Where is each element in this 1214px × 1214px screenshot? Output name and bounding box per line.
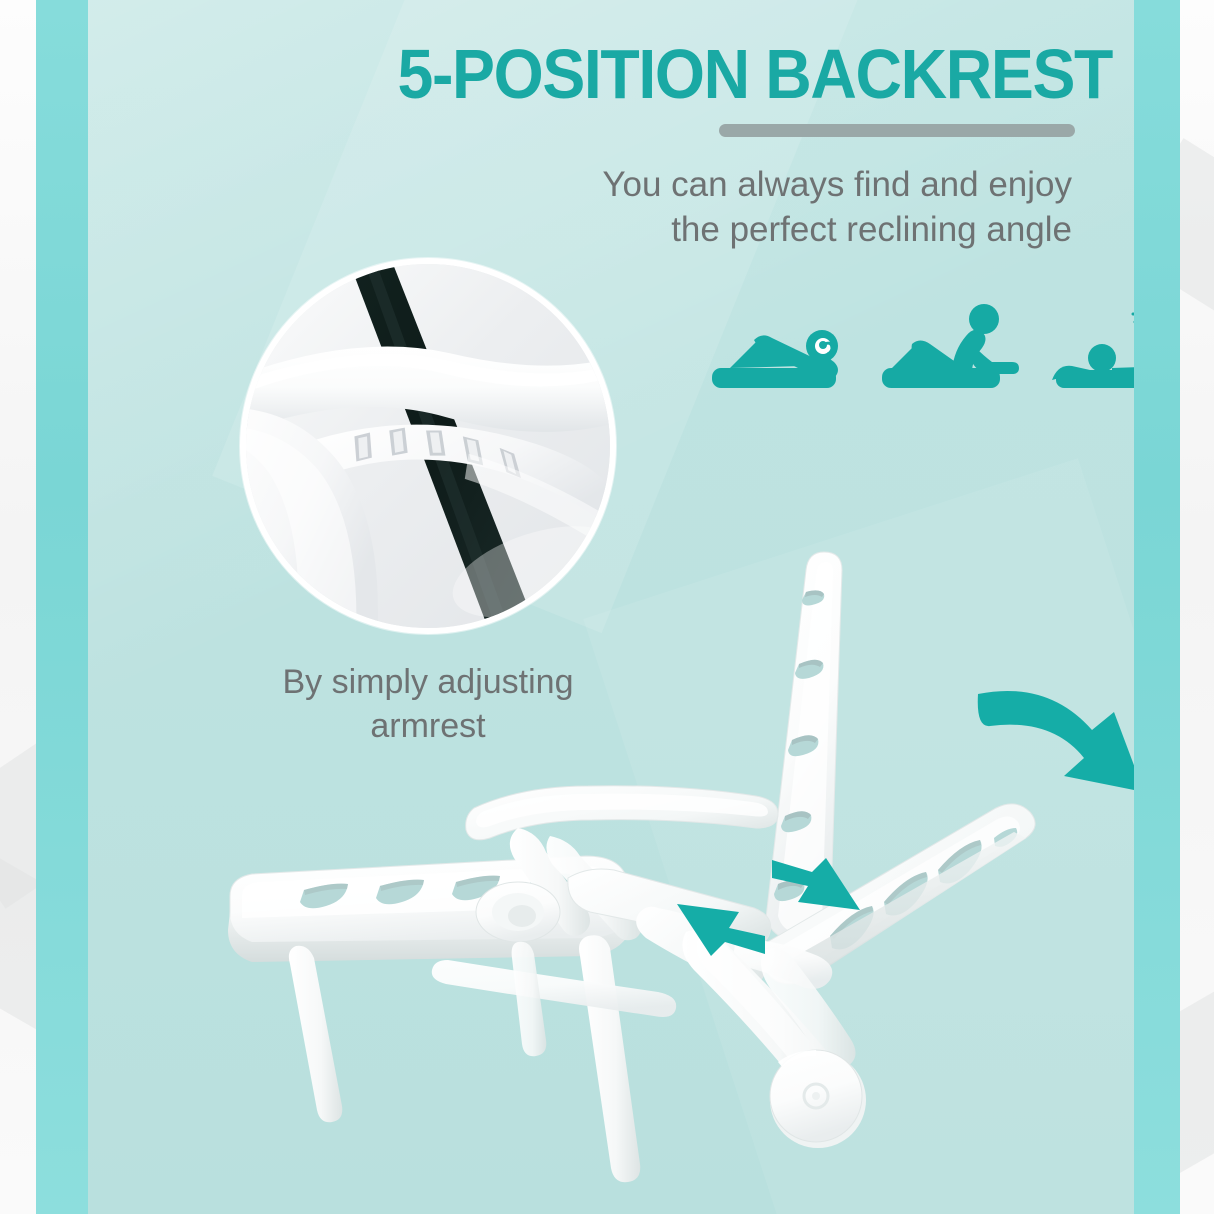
main-panel: 5-POSITION BACKREST You can always find … <box>88 0 1134 1214</box>
legs <box>289 929 856 1182</box>
page-title: 5-POSITION BACKREST <box>170 34 1112 114</box>
person-sunbathing-with-sun-icon <box>1050 292 1134 402</box>
person-propped-on-elbows-icon <box>880 292 1020 402</box>
left-accent-bar <box>36 0 88 1214</box>
subtitle: You can always find and enjoy the perfec… <box>452 163 1072 253</box>
person-lying-flat-reading-icon <box>710 292 850 402</box>
right-accent-bar <box>1128 0 1180 1214</box>
left-margin <box>0 0 36 1214</box>
subtitle-line-2: the perfect reclining angle <box>452 208 1072 253</box>
product-image-lounger <box>118 540 1128 1200</box>
title-divider <box>719 124 1075 137</box>
subtitle-line-1: You can always find and enjoy <box>452 163 1072 208</box>
adjust-up-arrow-icon <box>673 890 769 962</box>
right-margin <box>1180 0 1214 1214</box>
marketing-infographic: 5-POSITION BACKREST You can always find … <box>0 0 1214 1214</box>
lounger-illustration <box>118 540 1128 1200</box>
transport-wheel <box>770 1050 866 1148</box>
recline-direction-arrow-icon <box>968 672 1134 812</box>
posture-pictogram-row <box>698 292 1134 412</box>
adjust-down-arrow-icon <box>768 852 864 924</box>
